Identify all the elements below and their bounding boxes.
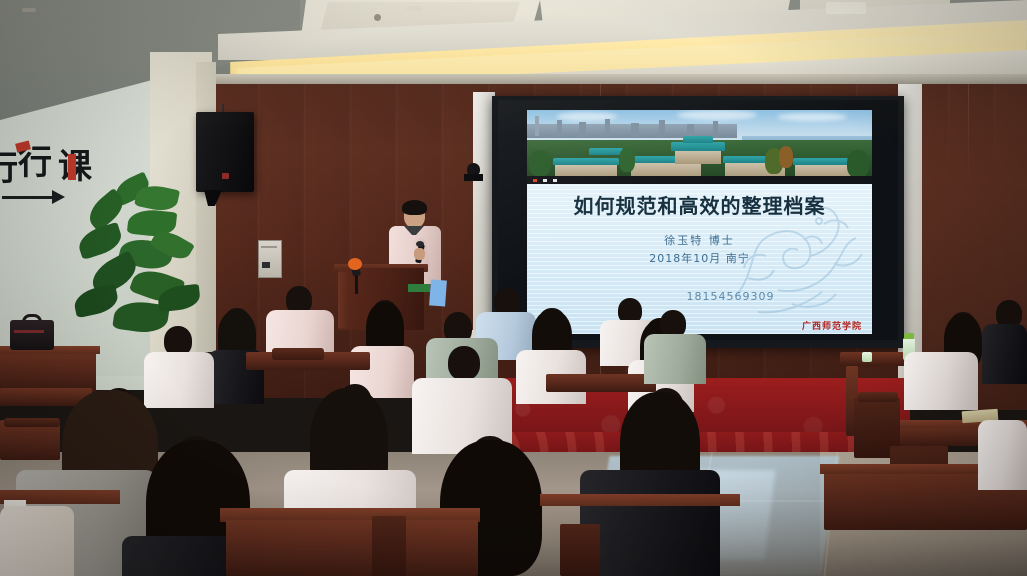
ceiling-sprinkler-icon xyxy=(374,14,381,21)
slide-dot-icon xyxy=(543,179,547,182)
camera-bag xyxy=(10,320,54,350)
slide-photo-strip xyxy=(527,176,872,184)
speaker-logo-icon xyxy=(222,173,229,179)
presenter-hair xyxy=(402,200,427,215)
audience-head xyxy=(448,346,480,380)
ceiling-light-panel xyxy=(826,2,866,14)
podium-side xyxy=(338,272,348,328)
audience-body xyxy=(644,334,706,384)
ceiling-vent xyxy=(22,8,36,12)
slide-dot-icon xyxy=(553,179,557,182)
presentation-slide: 如何规范和高效的整理档案 徐玉特 博士 2018年10月 南宁 18154569… xyxy=(527,110,872,334)
lecture-hall-photo: 行 行 课 xyxy=(0,0,1027,576)
audience-body xyxy=(978,420,1027,490)
microphone-windscreen-icon xyxy=(348,258,362,270)
control-panel-button[interactable] xyxy=(262,262,270,268)
slide-header-photo xyxy=(527,110,872,184)
blue-paper xyxy=(429,279,447,306)
wall-speaker xyxy=(196,112,254,192)
slide-dot-red-icon xyxy=(533,179,537,182)
chair-back xyxy=(858,392,898,402)
side-table xyxy=(0,348,96,392)
slide-title: 如何规范和高效的整理档案 xyxy=(527,190,872,219)
audience-body xyxy=(982,324,1027,384)
bottle-cap xyxy=(904,333,914,339)
presenter-hand xyxy=(414,248,425,260)
control-panel-label xyxy=(261,246,277,248)
camera-mount xyxy=(464,174,483,181)
audience-body xyxy=(580,470,720,576)
institution-logo: 广西师范学院 xyxy=(802,319,862,332)
chair xyxy=(372,516,406,576)
slide-phone: 18154569309 xyxy=(527,290,872,303)
ceiling-vent xyxy=(406,6,422,11)
audience-body xyxy=(144,352,214,408)
slide-body: 如何规范和高效的整理档案 徐玉特 博士 2018年10月 南宁 18154569… xyxy=(527,184,872,334)
audience-body xyxy=(0,506,74,576)
bag-trim xyxy=(14,330,44,333)
desk xyxy=(226,520,478,576)
bench-back xyxy=(4,418,60,427)
audience-body xyxy=(904,352,978,410)
wall-art-char-1: 行 xyxy=(0,152,18,186)
slide-presenter: 徐玉特 博士 xyxy=(527,232,872,248)
desk-top xyxy=(540,494,740,506)
arrow-icon xyxy=(52,190,65,204)
green-label xyxy=(408,284,430,292)
water-bottle xyxy=(862,352,872,362)
chair xyxy=(560,524,600,576)
microphone-head-icon xyxy=(416,241,424,247)
wall-arrow-line xyxy=(2,196,54,199)
chair-back xyxy=(272,348,324,360)
desk xyxy=(546,374,656,392)
slide-date-location: 2018年10月 南宁 xyxy=(527,250,872,266)
